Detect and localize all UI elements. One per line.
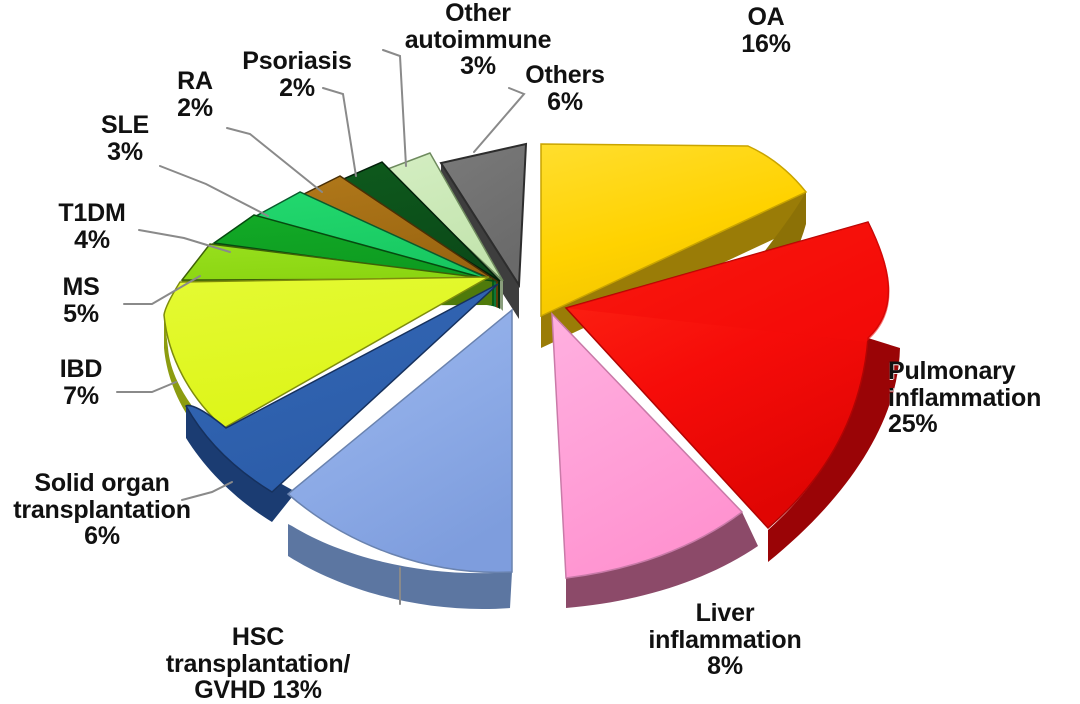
label-hsc: HSC transplantation/ GVHD 13% bbox=[148, 624, 368, 704]
label-liver: Liver inflammation 8% bbox=[600, 600, 850, 680]
label-psoriasis: Psoriasis 2% bbox=[228, 48, 366, 101]
label-others: Others 6% bbox=[506, 62, 624, 115]
label-t1dm: T1DM 4% bbox=[42, 200, 142, 253]
leader-psoriasis bbox=[323, 88, 356, 176]
leader-ibd bbox=[117, 382, 176, 392]
leader-ra bbox=[227, 128, 322, 192]
leader-sle bbox=[160, 166, 268, 216]
pie-chart-figure: HSC transplantation/ GVHD 13% OA 16% Pul… bbox=[0, 0, 1080, 697]
label-ms: MS 5% bbox=[42, 274, 120, 327]
label-oa: OA 16% bbox=[676, 4, 856, 57]
label-solid-organ: Solid organ transplantation 6% bbox=[4, 470, 200, 550]
label-sle: SLE 3% bbox=[84, 112, 166, 165]
label-ibd: IBD 7% bbox=[40, 356, 122, 409]
label-pulmonary: Pulmonary inflammation 25% bbox=[888, 358, 1080, 438]
label-ra: RA 2% bbox=[160, 68, 230, 121]
